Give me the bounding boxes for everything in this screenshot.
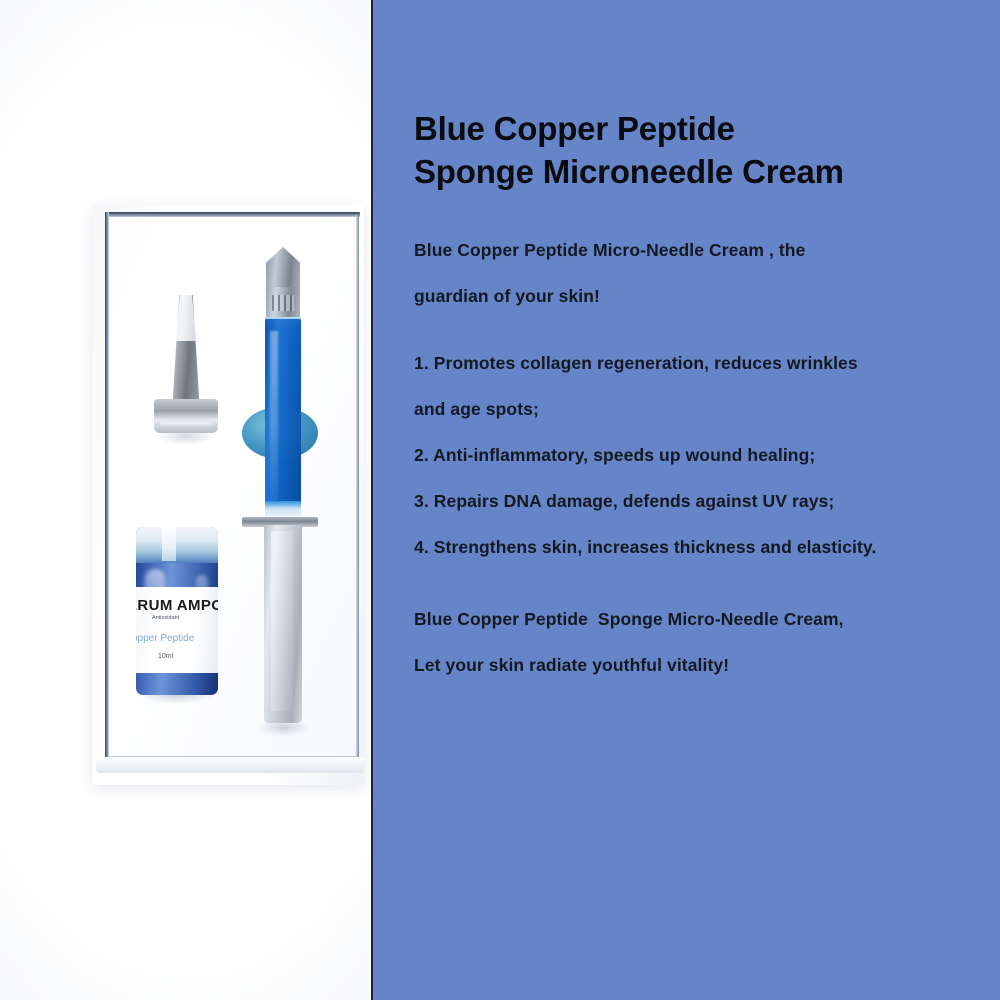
syringe-gel-base [265,501,301,517]
intro-paragraph: Blue Copper Peptide Micro-Needle Cream ,… [414,228,982,320]
ampoule-label-brand: ERUM AMPO [136,597,218,614]
box-rim-right [356,215,359,757]
title-line-2: Sponge Microneedle Cream [414,151,982,194]
box-rim-top [105,212,360,217]
sponge-clear-tip [173,295,199,341]
intro-line-2: guardian of your skin! [414,274,982,320]
benefit-item-1-continued: and age spots; [414,387,982,433]
title-line-1: Blue Copper Peptide [414,108,982,151]
product-gift-box: ERUM AMPO Antioxidant opper Peptide 10ml [92,205,364,785]
product-marketing-image: ERUM AMPO Antioxidant opper Peptide 10ml [0,0,1000,1000]
sponge-base-plate [154,399,218,433]
ampoule-cap-notch [162,527,176,561]
benefit-item-1: 1. Promotes collagen regeneration, reduc… [414,341,982,387]
sponge-drop-shadow [158,431,214,445]
marketing-copy-pane: Blue Copper Peptide Sponge Microneedle C… [371,0,1000,1000]
benefits-list: 1. Promotes collagen regeneration, reduc… [414,341,982,570]
product-photo-pane: ERUM AMPO Antioxidant opper Peptide 10ml [0,0,371,1000]
sponge-applicator-head [154,295,218,445]
closing-line-1: Blue Copper Peptide Sponge Micro-Needle … [414,597,982,643]
ampoule-label-ingredient: opper Peptide [136,633,194,644]
syringe-drop-shadow [258,721,310,737]
sponge-base-slot [160,422,212,427]
ampoule-label: ERUM AMPO Antioxidant opper Peptide 10ml [136,587,218,673]
page-title: Blue Copper Peptide Sponge Microneedle C… [414,0,982,194]
syringe-gel-highlight [270,331,278,501]
syringe-collar-ribs [272,295,294,311]
benefit-item-4: 4. Strengthens skin, increases thickness… [414,525,982,571]
copy-content: Blue Copper Peptide Sponge Microneedle C… [414,0,982,688]
benefit-item-3: 3. Repairs DNA damage, defends against U… [414,479,982,525]
benefit-item-2: 2. Anti-inflammatory, speeds up wound he… [414,433,982,479]
closing-paragraph: Blue Copper Peptide Sponge Micro-Needle … [414,597,982,689]
box-rim-left [105,212,109,761]
syringe-plunger-rod [271,531,293,711]
serum-ampoule-bottle: ERUM AMPO Antioxidant opper Peptide 10ml [136,527,218,695]
ampoule-label-volume: 10ml [158,653,173,660]
ampoule-label-descriptor: Antioxidant [152,615,179,621]
box-bottom-lip [96,757,364,773]
microneedle-syringe-applicator [242,247,318,727]
intro-line-1: Blue Copper Peptide Micro-Needle Cream ,… [414,228,982,274]
closing-line-2: Let your skin radiate youthful vitality! [414,643,982,689]
ampoule-shoulder [136,527,218,563]
